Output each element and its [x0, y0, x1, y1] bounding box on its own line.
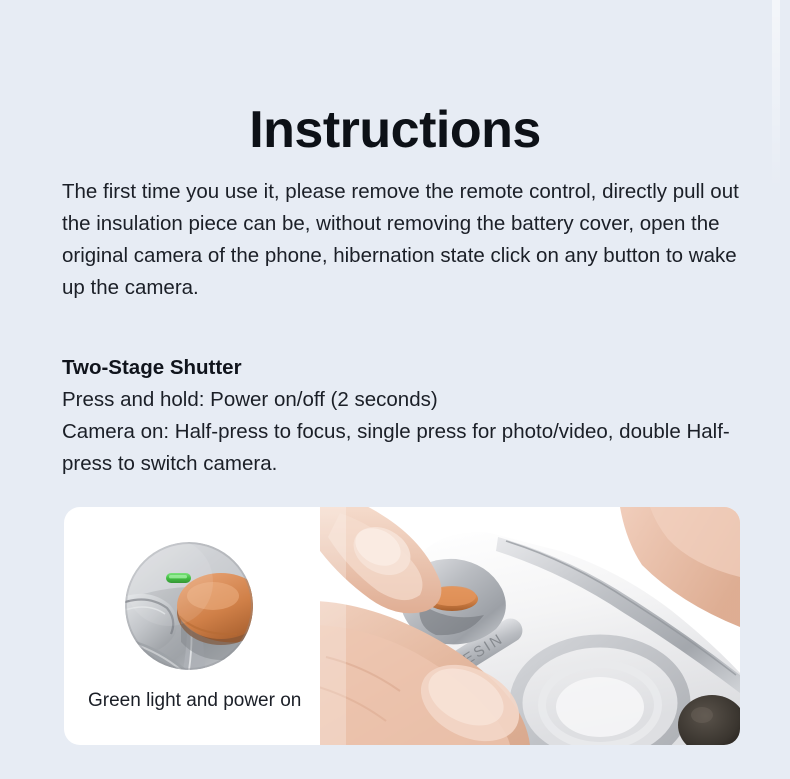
two-stage-shutter-section: Two-Stage Shutter Press and hold: Power … — [62, 352, 742, 480]
intro-paragraph: The first time you use it, please remove… — [62, 176, 742, 304]
page-title: Instructions — [0, 101, 790, 161]
led-and-button-closeup — [125, 542, 253, 670]
closeup-inset-circle — [125, 542, 253, 670]
shutter-instruction-line-1: Press and hold: Power on/off (2 seconds) — [62, 384, 742, 416]
hand-grip-illustration: TELESIN — [320, 507, 740, 745]
background-light-streak — [772, 0, 780, 190]
shutter-instruction-line-2: Camera on: Half-press to focus, single p… — [62, 416, 742, 480]
section-heading-two-stage-shutter: Two-Stage Shutter — [62, 352, 742, 384]
photo-caption: Green light and power on — [88, 689, 301, 713]
instructions-page: Instructions The first time you use it, … — [0, 0, 790, 779]
product-photo-hand-grip: TELESIN — [320, 507, 740, 745]
photo-card: TELESIN — [64, 507, 740, 745]
instructions-copy: The first time you use it, please remove… — [62, 176, 742, 480]
